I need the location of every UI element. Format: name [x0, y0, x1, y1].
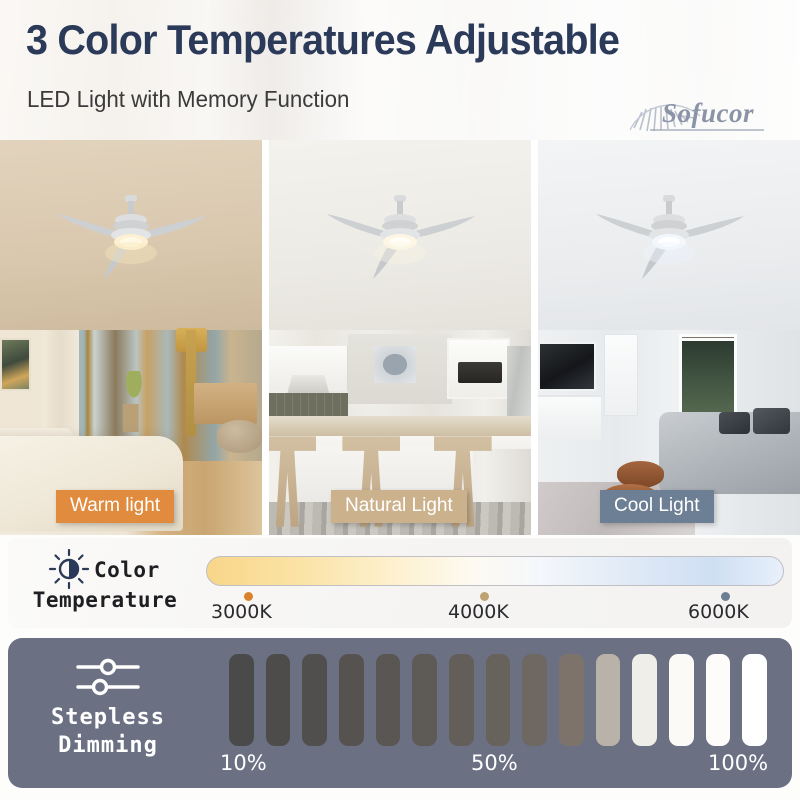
dimming-bar[interactable] — [596, 654, 621, 746]
page-subtitle: LED Light with Memory Function — [27, 86, 349, 113]
dimming-bar[interactable] — [266, 654, 291, 746]
dimming-bar[interactable] — [669, 654, 694, 746]
dimming-bar[interactable] — [229, 654, 254, 746]
wall-art — [374, 346, 416, 383]
scene-panels: Warm light — [0, 140, 800, 535]
window — [679, 338, 737, 416]
temperature-tick-6000k: 6000K — [688, 601, 749, 623]
dimming-bar[interactable] — [486, 654, 511, 746]
dimming-bar[interactable] — [412, 654, 437, 746]
dimming-bar[interactable] — [339, 654, 364, 746]
dimming-bar[interactable] — [559, 654, 584, 746]
color-temperature-label-bottom: Temperature — [20, 590, 190, 611]
stepless-dimming-section: Stepless Dimming 10% 50% 100% — [8, 638, 792, 788]
caption-natural-light: Natural Light — [331, 490, 467, 523]
color-temperature-gradient-bar[interactable] — [206, 556, 784, 586]
temperature-marker-4000k — [480, 592, 489, 601]
sun-half-brightness-icon — [48, 548, 90, 590]
panel-natural-light: Natural Light — [269, 140, 531, 535]
dimming-bar[interactable] — [742, 654, 767, 746]
brand-name: Sofucor — [662, 98, 754, 129]
color-temperature-section: Color Temperature 3000K 4000K 6000K — [8, 538, 792, 628]
ceiling-fan-icon — [315, 187, 485, 287]
dimming-level-bars[interactable] — [223, 654, 773, 746]
dimming-bar[interactable] — [302, 654, 327, 746]
caption-warm-light: Warm light — [56, 490, 174, 523]
desk — [194, 383, 257, 424]
dimming-tick-50: 50% — [471, 751, 518, 775]
temperature-marker-6000k — [721, 592, 730, 601]
dimming-bar[interactable] — [706, 654, 731, 746]
potted-plant — [121, 371, 147, 433]
dimming-bar[interactable] — [376, 654, 401, 746]
media-cabinets — [538, 395, 601, 440]
dimming-tick-100: 100% — [708, 751, 768, 775]
header-banner: 3 Color Temperatures Adjustable LED Ligh… — [0, 0, 800, 140]
page-title: 3 Color Temperatures Adjustable — [26, 16, 619, 64]
ceiling-fan-icon — [584, 187, 754, 287]
dimming-tick-10: 10% — [220, 751, 267, 775]
throw-pillow — [719, 412, 750, 435]
dimming-bar[interactable] — [632, 654, 657, 746]
backsplash — [269, 393, 348, 418]
temperature-tick-4000k: 4000K — [448, 601, 509, 623]
range-hood — [287, 375, 329, 393]
brand-logo: Sofucor — [622, 78, 772, 136]
sliders-icon — [70, 655, 146, 699]
throw-pillow — [753, 408, 790, 435]
color-temperature-label-top: Color — [94, 558, 160, 582]
ceiling-fan-icon — [46, 187, 216, 287]
wall-art — [0, 338, 31, 391]
dimming-title-line2: Dimming — [8, 732, 208, 760]
stepless-dimming-title: Stepless Dimming — [8, 704, 208, 759]
ottoman — [217, 420, 262, 453]
television — [538, 342, 596, 391]
built-in-shelves — [604, 334, 638, 416]
panel-cool-light: Cool Light — [538, 140, 800, 535]
temperature-tick-3000k: 3000K — [211, 601, 272, 623]
dimming-title-line1: Stepless — [8, 704, 208, 732]
dimming-bar[interactable] — [522, 654, 547, 746]
dimming-bar[interactable] — [449, 654, 474, 746]
panel-warm-light: Warm light — [0, 140, 262, 535]
temperature-marker-3000k — [244, 592, 253, 601]
caption-cool-light: Cool Light — [600, 490, 714, 523]
microwave — [458, 362, 503, 383]
product-infographic: 3 Color Temperatures Adjustable LED Ligh… — [0, 0, 800, 800]
